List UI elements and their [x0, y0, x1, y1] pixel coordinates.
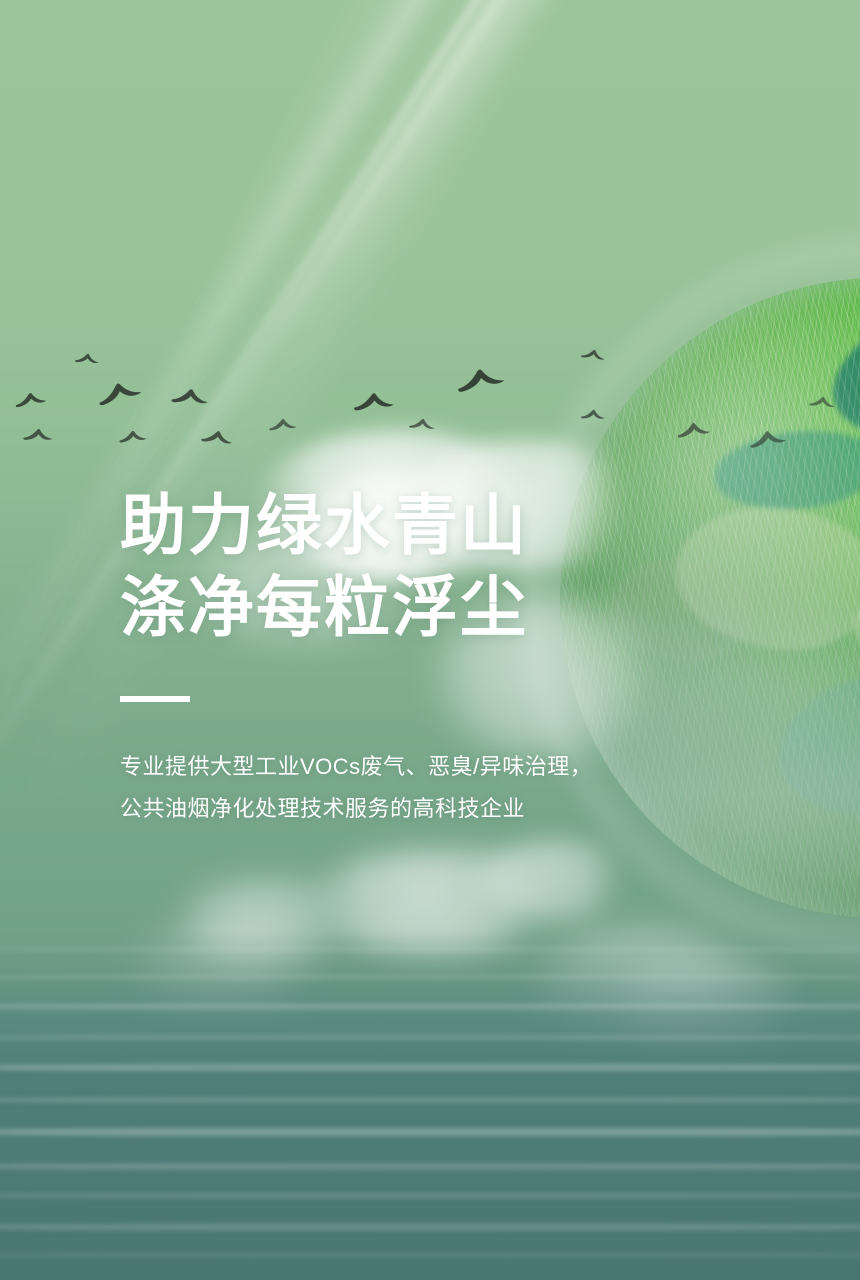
- divider-bar: [120, 696, 190, 702]
- wave-line: [0, 1034, 860, 1041]
- wave-line: [0, 1062, 860, 1073]
- promo-poster: 助力绿水青山 涤净每粒浮尘 专业提供大型工业VOCs废气、恶臭/异味治理， 公共…: [0, 0, 860, 1280]
- wave-line: [0, 974, 860, 980]
- water-surface: [0, 930, 860, 1280]
- text-content: 助力绿水青山 涤净每粒浮尘 专业提供大型工业VOCs废气、恶臭/异味治理， 公共…: [120, 484, 680, 828]
- headline-line-1: 助力绿水青山: [120, 484, 680, 566]
- wave-line: [0, 1192, 860, 1199]
- subtitle-line-1: 专业提供大型工业VOCs废气、恶臭/异味治理，: [120, 748, 680, 786]
- wave-line: [0, 1222, 860, 1232]
- wave-line: [0, 1002, 860, 1011]
- wave-line: [0, 946, 860, 953]
- headline-line-2: 涤净每粒浮尘: [120, 566, 680, 648]
- wave-line: [0, 1252, 860, 1258]
- wave-line: [0, 1096, 860, 1104]
- wave-line: [0, 1126, 860, 1138]
- subtitle-line-2: 公共油烟净化处理技术服务的高科技企业: [120, 790, 680, 828]
- wave-line: [0, 1162, 860, 1171]
